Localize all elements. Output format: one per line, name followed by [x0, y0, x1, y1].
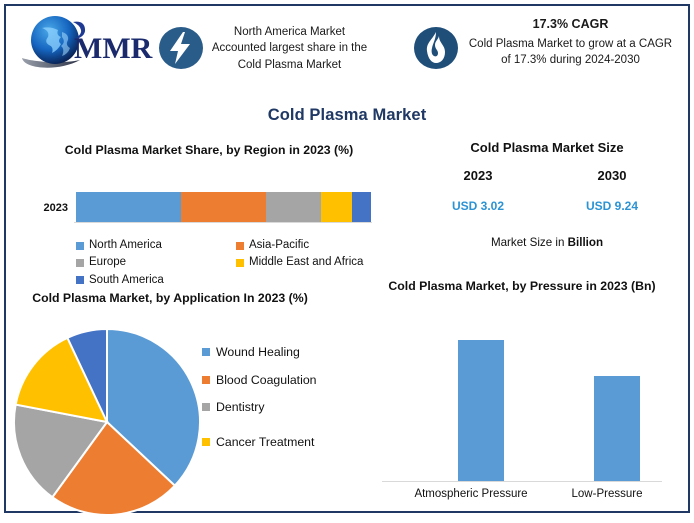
header-card-1-text: North America Market Accounted largest s…: [208, 24, 371, 73]
chart-region-share: Cold Plasma Market Share, by Region in 2…: [6, 142, 406, 287]
legend-swatch: [202, 438, 210, 446]
market-size-value: USD 3.02: [418, 199, 538, 213]
stacked-bar-segment: [352, 192, 371, 222]
legend-label: Wound Healing: [216, 344, 300, 361]
stacked-bar-segment: [76, 192, 181, 222]
flame-icon: [411, 24, 461, 72]
pie-svg: [11, 326, 203, 518]
header-card-2-text: 17.3% CAGR Cold Plasma Market to grow at…: [463, 16, 678, 68]
legend-label: Blood Coagulation: [216, 372, 317, 389]
stacked-bar: [76, 192, 371, 222]
legend-item-region: Asia-Pacific: [236, 238, 396, 252]
legend-swatch: [202, 376, 210, 384]
legend-label: South America: [89, 273, 164, 287]
legend-label: Dentistry: [216, 399, 265, 416]
column-category-label: Low-Pressure: [532, 488, 682, 500]
chart-pressure: Cold Plasma Market, by Pressure in 2023 …: [358, 278, 688, 518]
legend-label: Middle East and Africa: [249, 255, 363, 269]
legend-label: Cancer Treatment: [216, 434, 314, 451]
legend-application: Wound HealingBlood CoagulationDentistryC…: [202, 344, 354, 461]
legend-item-region: North America: [76, 238, 236, 252]
mmr-logo: MMR: [18, 12, 158, 74]
legend-item-region: Europe: [76, 255, 236, 269]
lightning-bolt-icon: [156, 24, 206, 72]
legend-swatch: [76, 276, 84, 284]
pressure-axis-line: [382, 481, 662, 482]
legend-region: North AmericaAsia-PacificEuropeMiddle Ea…: [76, 238, 396, 290]
region-axis-line: [74, 222, 372, 223]
market-size-footnote: Market Size in Billion: [406, 236, 688, 249]
header: MMR North America Market Accounted large…: [6, 6, 688, 98]
chart-application-share: Cold Plasma Market, by Application In 20…: [6, 290, 358, 518]
column-category-label: Atmospheric Pressure: [396, 488, 546, 500]
globe-swoosh-icon: MMR: [18, 12, 158, 74]
market-size-year: 2030: [552, 168, 672, 183]
column-bar: [594, 376, 640, 482]
page-title: Cold Plasma Market: [6, 106, 688, 125]
legend-swatch: [76, 259, 84, 267]
pressure-plot-area: [382, 322, 672, 482]
legend-item-region: Middle East and Africa: [236, 255, 396, 269]
legend-swatch: [236, 259, 244, 267]
market-size-column-2030: 2030 USD 9.24: [552, 168, 672, 213]
stacked-bar-segment: [321, 192, 352, 222]
legend-swatch: [236, 242, 244, 250]
market-size-value: USD 9.24: [552, 199, 672, 213]
market-size-year: 2023: [418, 168, 538, 183]
legend-item-application: Dentistry: [202, 399, 354, 416]
legend-label: Asia-Pacific: [249, 238, 309, 252]
legend-item-region: South America: [76, 273, 236, 287]
cagr-body: Cold Plasma Market to grow at a CAGR of …: [469, 38, 672, 66]
region-plot-area: 2023: [6, 192, 406, 232]
cagr-headline: 17.3% CAGR: [463, 16, 678, 34]
region-category-label: 2023: [20, 202, 68, 214]
chart-title-application: Cold Plasma Market, by Application In 20…: [20, 290, 320, 308]
column-bar: [458, 340, 504, 482]
pressure-category-labels: Atmospheric PressureLow-Pressure: [372, 488, 682, 512]
logo-wordmark: MMR: [74, 32, 153, 65]
legend-item-application: Blood Coagulation: [202, 372, 354, 389]
market-size-title: Cold Plasma Market Size: [406, 140, 688, 155]
pie-chart: [11, 326, 203, 518]
market-size-footnote-unit: Billion: [568, 236, 603, 249]
infographic-frame: MMR North America Market Accounted large…: [4, 4, 690, 513]
market-size-footnote-prefix: Market Size in: [491, 236, 568, 249]
market-size-column-2023: 2023 USD 3.02: [418, 168, 538, 213]
legend-swatch: [202, 348, 210, 356]
legend-item-application: Cancer Treatment: [202, 434, 354, 451]
stacked-bar-segment: [181, 192, 267, 222]
legend-label: Europe: [89, 255, 126, 269]
legend-swatch: [76, 242, 84, 250]
legend-label: North America: [89, 238, 162, 252]
legend-item-application: Wound Healing: [202, 344, 354, 361]
chart-title-pressure: Cold Plasma Market, by Pressure in 2023 …: [372, 278, 672, 296]
chart-title-region: Cold Plasma Market Share, by Region in 2…: [34, 142, 384, 160]
legend-swatch: [202, 403, 210, 411]
stacked-bar-segment: [266, 192, 321, 222]
market-size-panel: Cold Plasma Market Size 2023 USD 3.02 20…: [406, 140, 688, 270]
